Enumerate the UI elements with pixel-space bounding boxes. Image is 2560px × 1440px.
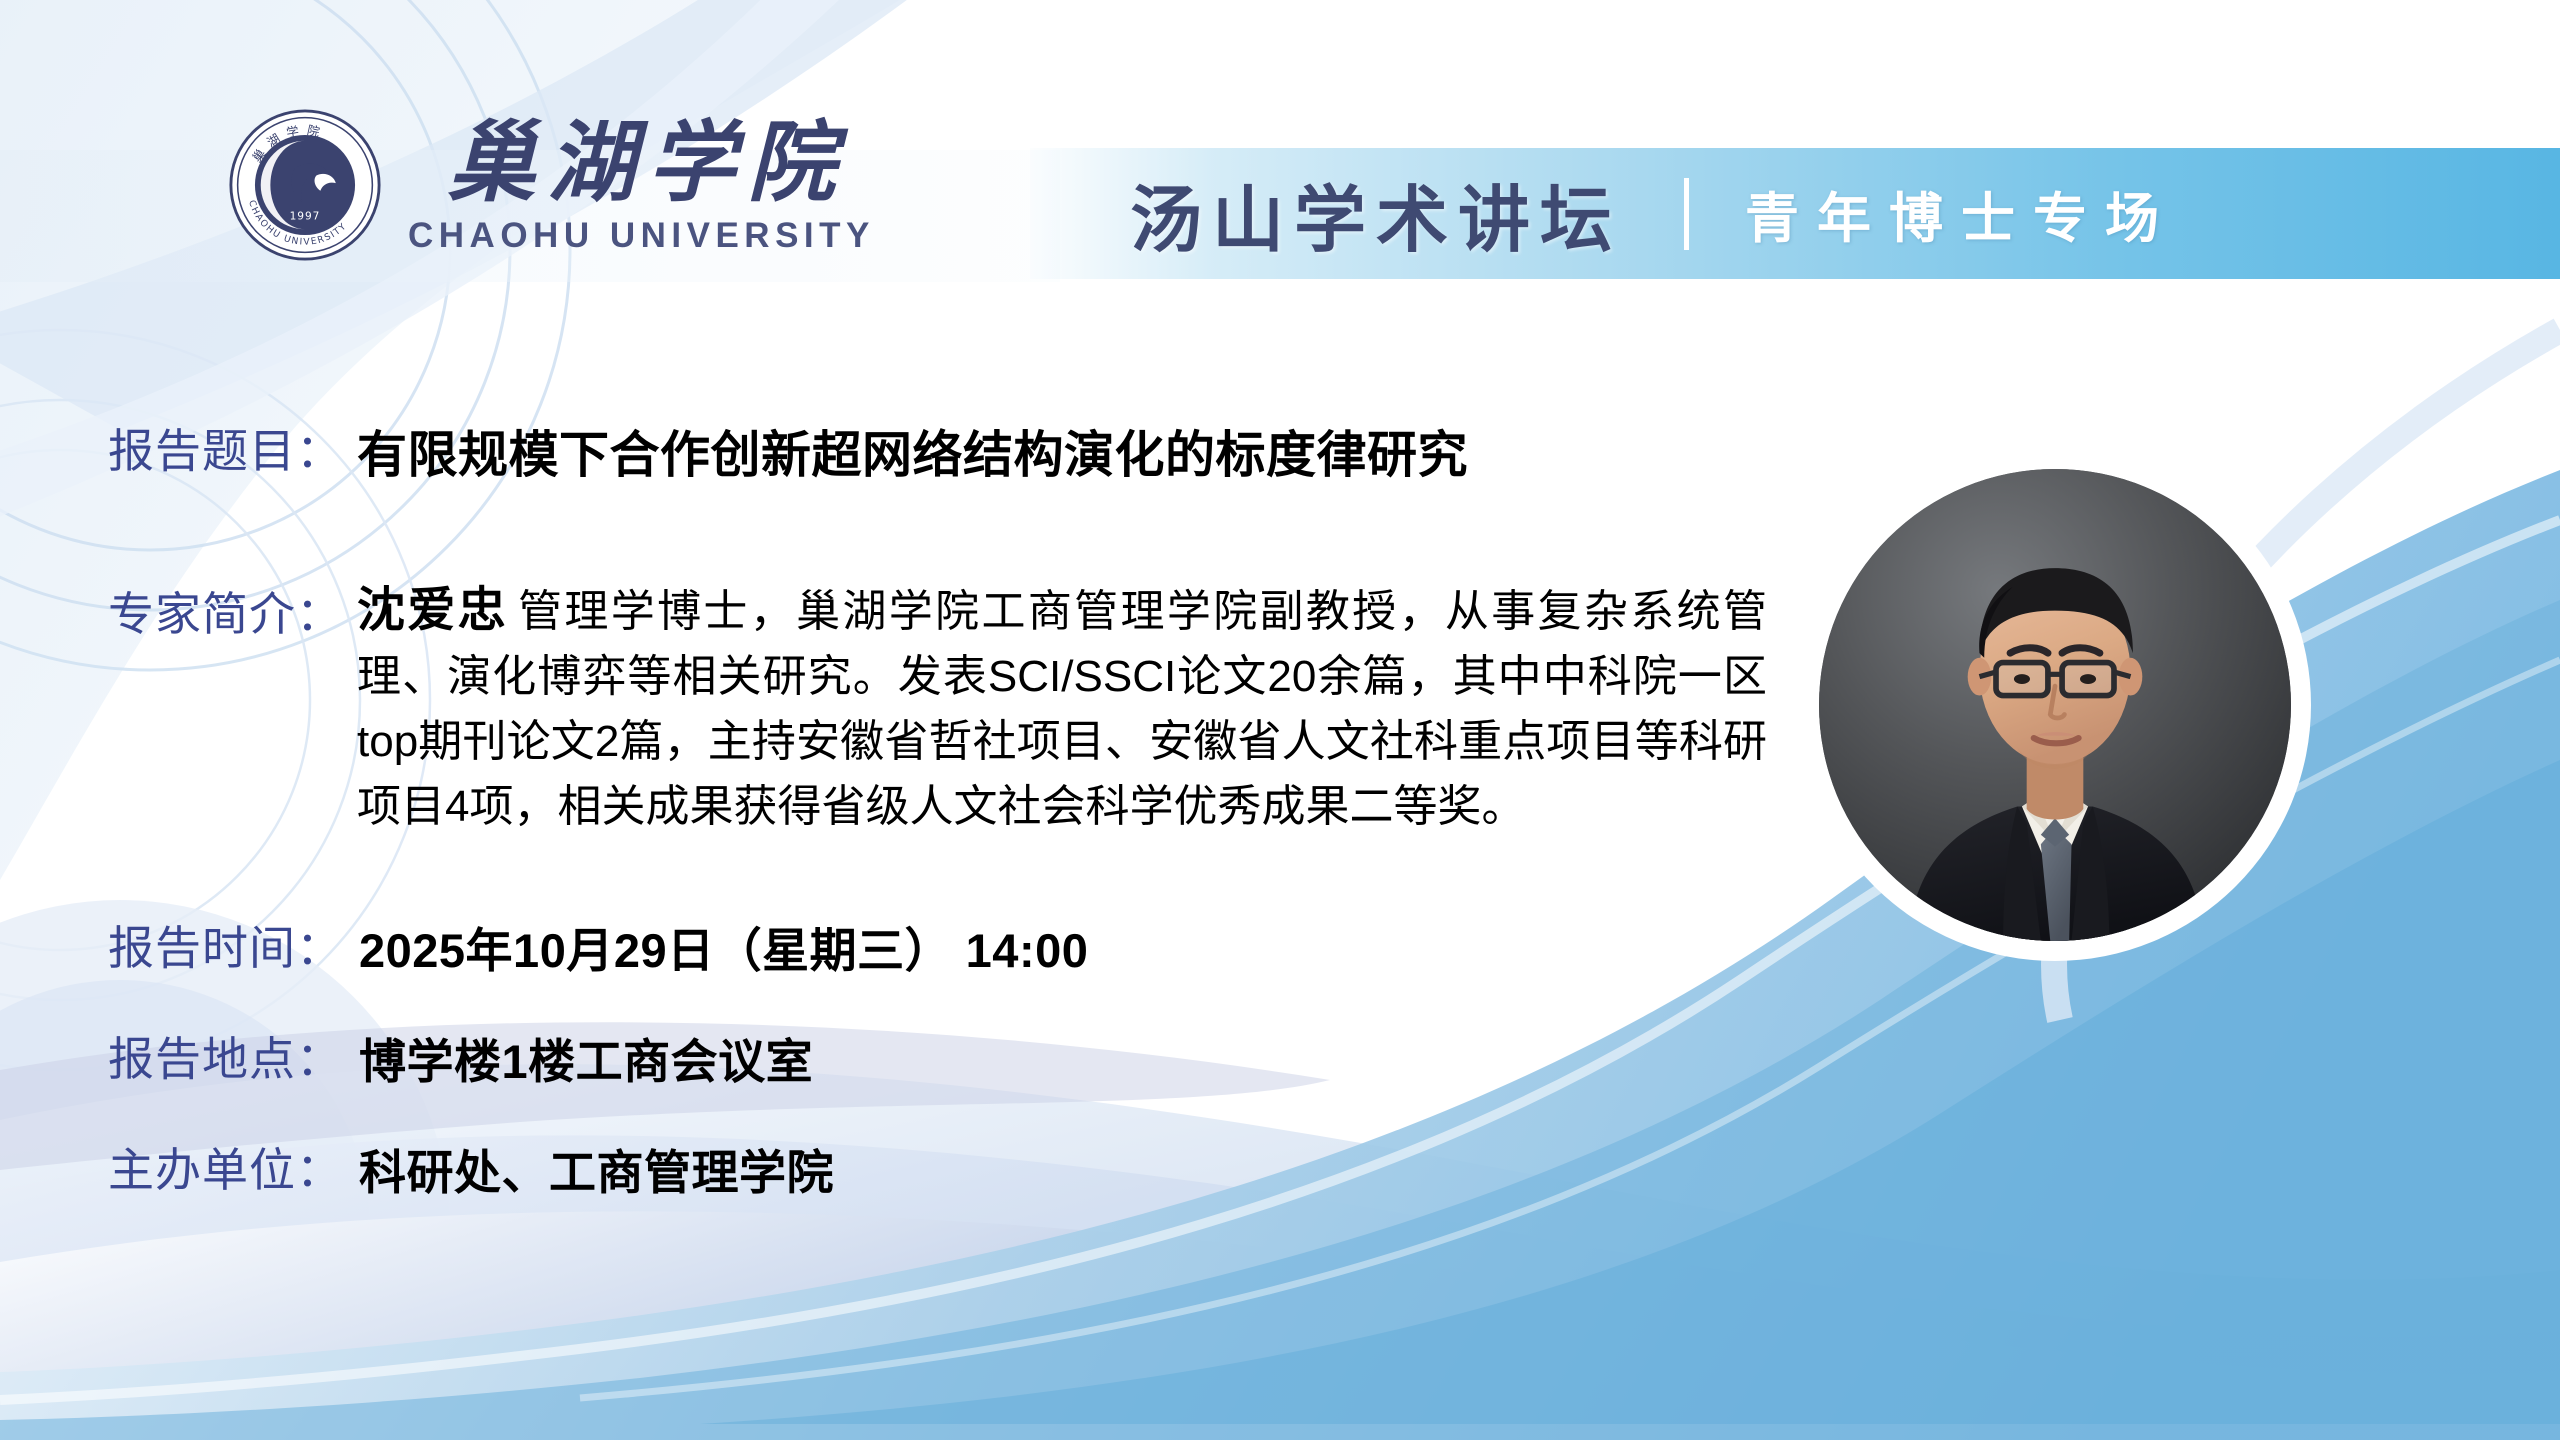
lecture-title-row: 报告题目： 有限规模下合作创新超网络结构演化的标度律研究 [108,415,1468,487]
lecture-place-value: 博学楼1楼工商会议室 [359,1023,813,1092]
speaker-portrait [1810,460,2300,950]
speaker-bio-label: 专家简介： [108,578,343,644]
speaker-name: 沈爱忠 [357,584,508,637]
lecture-host-row: 主办单位： 科研处、工商管理学院 [108,1134,834,1203]
lecture-place-label: 报告地点： [108,1023,343,1089]
lecture-title-value: 有限规模下合作创新超网络结构演化的标度律研究 [357,415,1468,487]
speaker-bio-body: 沈爱忠管理学博士，巢湖学院工商管理学院副教授，从事复杂系统管理、演化博弈等相关研… [357,578,1767,839]
speaker-bio-text: 管理学博士，巢湖学院工商管理学院副教授，从事复杂系统管理、演化博弈等相关研究。发… [357,587,1767,831]
lecture-host-label: 主办单位： [108,1134,343,1200]
lecture-poster: 1997 巢湖学院 CHAOHU UNIVERSITY 巢湖学院 CHAOHU … [0,0,2560,1440]
lecture-place-row: 报告地点： 博学楼1楼工商会议室 [108,1023,813,1092]
lecture-time-value: 2025年10月29日（星期三） 14:00 [359,912,1088,981]
portrait-photo [1819,469,2291,941]
lecture-title-label: 报告题目： [108,415,343,481]
lecture-host-value: 科研处、工商管理学院 [359,1134,834,1203]
lecture-time-label: 报告时间： [108,912,343,978]
lecture-time-row: 报告时间： 2025年10月29日（星期三） 14:00 [108,912,1088,981]
speaker-bio-row: 专家简介： 沈爱忠管理学博士，巢湖学院工商管理学院副教授，从事复杂系统管理、演化… [108,578,1767,839]
